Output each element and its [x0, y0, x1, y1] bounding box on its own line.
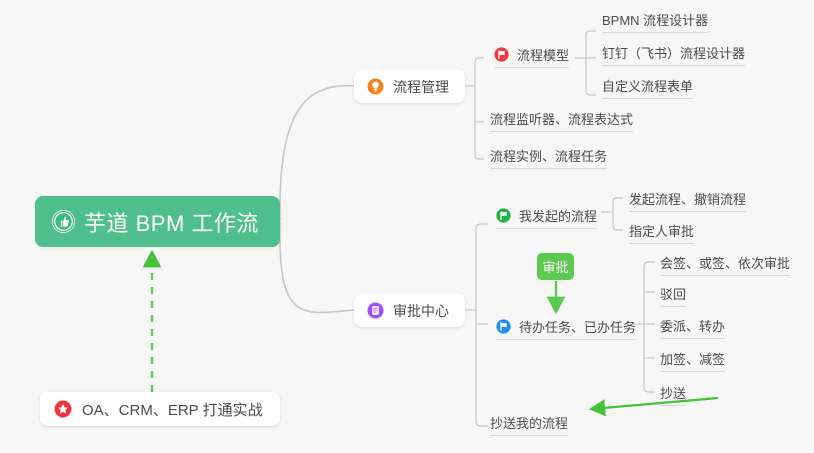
- flag-blue-icon: [496, 319, 511, 334]
- edge-todo-tasks-bracket: [644, 262, 655, 392]
- edge-root-to-approval-center: [280, 222, 354, 312]
- item-process-instance[interactable]: 流程实例、流程任务: [490, 146, 607, 169]
- item-process-listener[interactable]: 流程监听器、流程表达式: [490, 109, 633, 132]
- item-custom-process-form[interactable]: 自定义流程表单: [602, 76, 693, 99]
- branch-node-approval-center[interactable]: 审批中心: [354, 294, 465, 327]
- item-assigned-approver[interactable]: 指定人审批: [629, 221, 694, 244]
- item-delegate-transfer[interactable]: 委派、转办: [660, 316, 725, 339]
- callout-node-label: OA、CRM、ERP 打通实战: [82, 399, 263, 420]
- star-icon: [54, 400, 72, 418]
- callout-node-integration[interactable]: OA、CRM、ERP 打通实战: [40, 392, 280, 426]
- item-label-reject: 驳回: [660, 284, 686, 303]
- item-label-custom-process-form: 自定义流程表单: [602, 76, 693, 95]
- item-label-cc: 抄送: [660, 383, 686, 402]
- item-label-add-remove-sign: 加签、减签: [660, 349, 725, 368]
- arrow-cc-to-cc-my-process: [592, 398, 718, 409]
- item-label-bpmn-designer: BPMN 流程设计器: [602, 10, 708, 29]
- item-label-todo-done-tasks: 待办任务、已办任务: [519, 317, 636, 336]
- item-countersign-approval[interactable]: 会签、或签、依次审批: [660, 253, 790, 276]
- badge-approval: 审批: [537, 253, 574, 280]
- item-label-delegate-transfer: 委派、转办: [660, 316, 725, 335]
- item-label-process-instance: 流程实例、流程任务: [490, 146, 607, 165]
- edge-process-management-bracket: [475, 58, 484, 159]
- edge-my-initiated-bracket: [613, 198, 623, 230]
- edge-root-to-process-management: [280, 86, 354, 221]
- edge-process-model-bracket: [586, 31, 596, 95]
- item-label-cc-to-me-process: 抄送我的流程: [490, 413, 568, 432]
- branch-node-process-management[interactable]: 流程管理: [354, 70, 465, 103]
- item-dingtalk-designer[interactable]: 钉钉（飞书）流程设计器: [602, 43, 745, 66]
- item-label-countersign-approval: 会签、或签、依次审批: [660, 253, 790, 272]
- item-todo-done-tasks[interactable]: 待办任务、已办任务: [496, 317, 636, 340]
- item-cc-to-me-process[interactable]: 抄送我的流程: [490, 413, 568, 436]
- item-label-dingtalk-designer: 钉钉（飞书）流程设计器: [602, 43, 745, 62]
- item-process-model[interactable]: 流程模型: [494, 45, 569, 68]
- branch-label-approval-center: 审批中心: [393, 301, 449, 321]
- item-label-process-model: 流程模型: [517, 45, 569, 64]
- mindmap-canvas: 芋道 BPM 工作流 流程管理 流程模型 BPMN 流程设计器 钉钉（飞书: [0, 0, 814, 453]
- edge-approval-center-bracket: [476, 224, 488, 426]
- item-cc[interactable]: 抄送: [660, 383, 686, 406]
- item-add-remove-sign[interactable]: 加签、减签: [660, 349, 725, 372]
- item-label-assigned-approver: 指定人审批: [629, 221, 694, 240]
- badge-approval-label: 审批: [542, 257, 568, 276]
- thumbs-up-icon: [52, 210, 75, 233]
- lightbulb-icon: [367, 78, 384, 95]
- branch-label-process-management: 流程管理: [393, 77, 449, 97]
- root-node-label: 芋道 BPM 工作流: [84, 206, 259, 238]
- item-label-my-initiated-process: 我发起的流程: [519, 206, 597, 225]
- item-my-initiated-process[interactable]: 我发起的流程: [496, 206, 597, 229]
- item-label-start-cancel-process: 发起流程、撤销流程: [629, 189, 746, 208]
- flag-green-icon: [496, 208, 511, 223]
- item-bpmn-designer[interactable]: BPMN 流程设计器: [602, 10, 708, 33]
- flag-red-icon: [494, 47, 509, 62]
- item-start-cancel-process[interactable]: 发起流程、撤销流程: [629, 189, 746, 212]
- item-reject[interactable]: 驳回: [660, 284, 686, 307]
- root-node[interactable]: 芋道 BPM 工作流: [35, 196, 280, 247]
- document-icon: [367, 302, 384, 319]
- item-label-process-listener: 流程监听器、流程表达式: [490, 109, 633, 128]
